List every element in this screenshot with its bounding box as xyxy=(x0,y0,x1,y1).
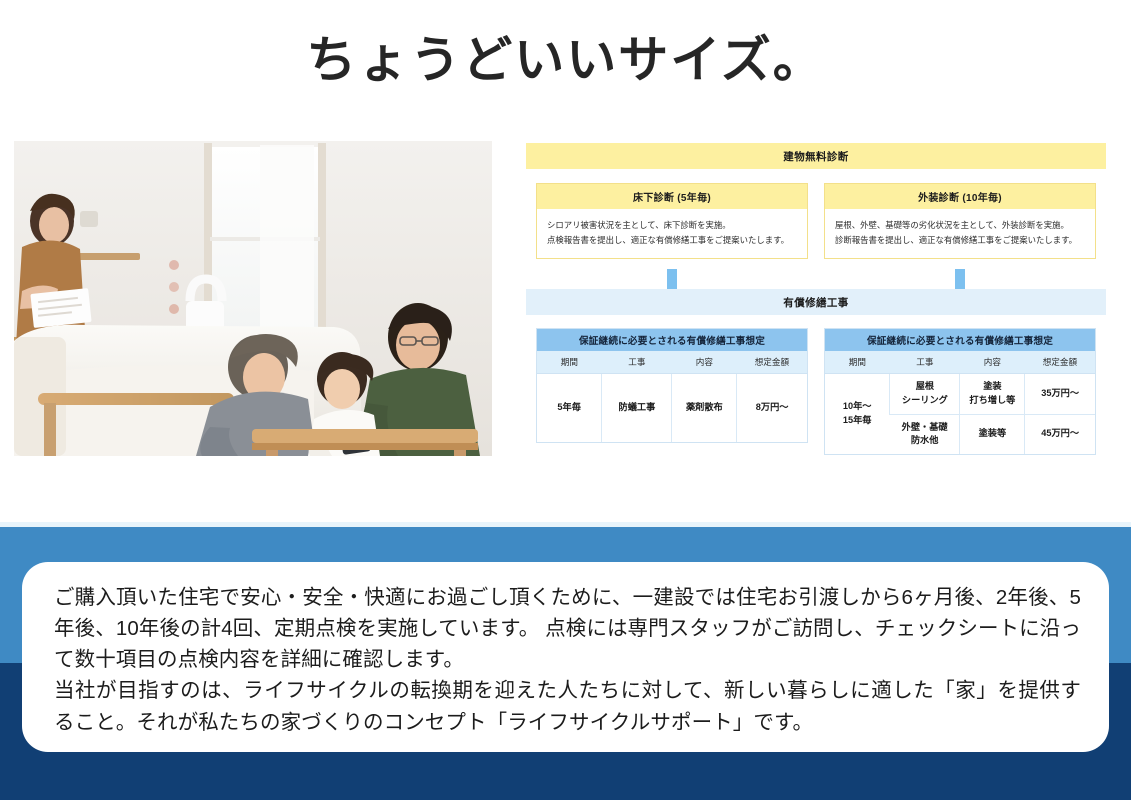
family-living-room-illustration xyxy=(14,141,492,456)
repair-table-left: 保証継続に必要とされる有償修繕工事想定 期間 工事 内容 想定金額 5年毎 防蟻… xyxy=(536,328,808,443)
exterior-inspection-line-2: 診断報告書を提出し、適正な有償修繕工事をご提案いたします。 xyxy=(835,233,1085,248)
cell-amount: 35万円～ xyxy=(1025,374,1095,415)
table-header-row: 期間 工事 内容 想定金額 xyxy=(825,351,1095,374)
cell-work-line-2: 防水他 xyxy=(891,434,959,448)
cell-detail-line-2: 打ち増し等 xyxy=(961,394,1023,408)
cell-amount: 45万円～ xyxy=(1025,414,1095,454)
hero-photo xyxy=(14,141,492,456)
exterior-inspection-line-1: 屋根、外壁、基礎等の劣化状況を主として、外装診断を実施。 xyxy=(835,218,1085,233)
exterior-inspection-box: 外装診断 (10年毎) 屋根、外壁、基礎等の劣化状況を主として、外装診断を実施。… xyxy=(824,183,1096,259)
cell-detail: 塗装 打ち増し等 xyxy=(960,374,1025,415)
col-work: 工事 xyxy=(890,351,960,374)
col-period: 期間 xyxy=(537,351,602,374)
diagram-column-floor-inspection: 床下診断 (5年毎) シロアリ被害状況を主として、床下診断を実施。 点検報告書を… xyxy=(536,183,808,259)
floor-inspection-body: シロアリ被害状況を主として、床下診断を実施。 点検報告書を提出し、適正な有償修繕… xyxy=(537,209,807,258)
cell-work: 屋根 シーリング xyxy=(890,374,960,415)
cell-period-line-2: 15年毎 xyxy=(826,414,888,428)
cell-detail: 塗装等 xyxy=(960,414,1025,454)
diagram-column-exterior-inspection: 外装診断 (10年毎) 屋根、外壁、基礎等の劣化状況を主として、外装診断を実施。… xyxy=(824,183,1096,259)
table-row: 10年～ 15年毎 屋根 シーリング 塗装 打ち増し等 35万円～ xyxy=(825,374,1095,415)
floor-inspection-line-1: シロアリ被害状況を主として、床下診断を実施。 xyxy=(547,218,797,233)
cell-work: 防蟻工事 xyxy=(602,374,672,443)
floor-inspection-box: 床下診断 (5年毎) シロアリ被害状況を主として、床下診断を実施。 点検報告書を… xyxy=(536,183,808,259)
page-title: ちょうどいいサイズ。 xyxy=(0,32,1131,90)
exterior-inspection-body: 屋根、外壁、基礎等の劣化状況を主として、外装診断を実施。 診断報告書を提出し、適… xyxy=(825,209,1095,258)
cell-period: 10年～ 15年毎 xyxy=(825,374,890,455)
copy-paragraph-1: ご購入頂いた住宅で安心・安全・快適にお過ごし頂くために、一建設では住宅お引渡しか… xyxy=(54,582,1081,675)
repair-table-right: 保証継続に必要とされる有償修繕工事想定 期間 工事 内容 想定金額 10年～ 1… xyxy=(824,328,1096,455)
cell-work-line-2: シーリング xyxy=(891,394,958,408)
cell-work-line-1: 外壁・基礎 xyxy=(891,421,959,435)
table-header-row: 期間 工事 内容 想定金額 xyxy=(537,351,807,374)
cell-detail: 薬剤散布 xyxy=(672,374,737,443)
col-amount: 想定金額 xyxy=(1025,351,1095,374)
floor-inspection-line-2: 点検報告書を提出し、適正な有償修繕工事をご提案いたします。 xyxy=(547,233,797,248)
floor-inspection-header: 床下診断 (5年毎) xyxy=(537,184,807,209)
cell-work-line-1: 屋根 xyxy=(891,380,958,394)
col-detail: 内容 xyxy=(672,351,737,374)
cell-amount: 8万円～ xyxy=(737,374,807,443)
repair-table-left-title: 保証継続に必要とされる有償修繕工事想定 xyxy=(537,329,807,351)
col-period: 期間 xyxy=(825,351,890,374)
concept-copy-card: ご購入頂いた住宅で安心・安全・快適にお過ごし頂くために、一建設では住宅お引渡しか… xyxy=(22,562,1109,752)
exterior-inspection-header: 外装診断 (10年毎) xyxy=(825,184,1095,209)
copy-paragraph-2: 当社が目指すのは、ライフサイクルの転換期を迎えた人たちに対して、新しい暮らしに適… xyxy=(54,675,1081,737)
cell-period: 5年毎 xyxy=(537,374,602,443)
col-detail: 内容 xyxy=(960,351,1025,374)
diagram-top-band: 建物無料診断 xyxy=(526,143,1106,169)
col-work: 工事 xyxy=(602,351,672,374)
maintenance-diagram: 建物無料診断 床下診断 (5年毎) シロアリ被害状況を主として、床下診断を実施。… xyxy=(526,143,1106,459)
cell-detail-line-1: 塗装 xyxy=(961,380,1023,394)
col-amount: 想定金額 xyxy=(737,351,807,374)
repair-table-right-title: 保証継続に必要とされる有償修繕工事想定 xyxy=(825,329,1095,351)
cell-period-line-1: 10年～ xyxy=(826,400,888,414)
table-row: 5年毎 防蟻工事 薬剤散布 8万円～ xyxy=(537,374,807,443)
diagram-middle-band: 有償修繕工事 xyxy=(526,289,1106,315)
cell-work: 外壁・基礎 防水他 xyxy=(890,414,960,454)
